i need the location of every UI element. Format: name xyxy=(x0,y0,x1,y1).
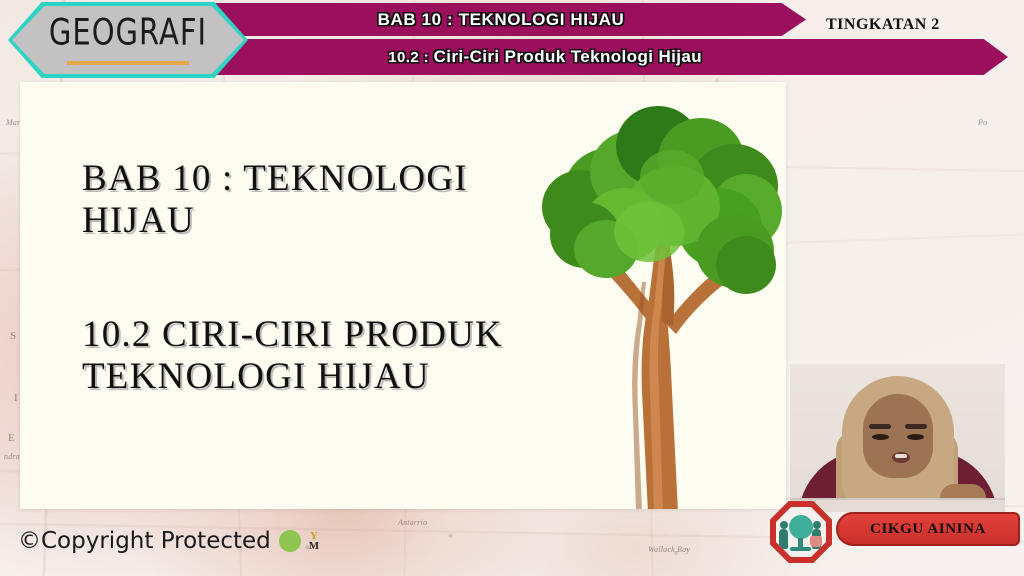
subject-name: GEOGRAFI xyxy=(49,11,207,54)
globe-icon xyxy=(789,515,813,539)
subject-underline xyxy=(67,61,189,65)
subject-hex-inner: GEOGRAFI xyxy=(12,6,244,74)
copyright-text: ©Copyright Protected xyxy=(18,528,271,554)
header-banner: BAB 10 : TEKNOLOGI HIJAU 10.2 : Ciri-Cir… xyxy=(0,0,1024,86)
map-label: Wallack Bay xyxy=(648,545,690,554)
map-label: ndra xyxy=(4,452,20,461)
map-label: Antarrio xyxy=(398,518,427,527)
presenter-eyebrow-left xyxy=(869,424,891,429)
student-head-left-icon xyxy=(780,521,788,529)
chapter-bar: BAB 10 : TEKNOLOGI HIJAU xyxy=(196,3,806,36)
topic-number: 10.2 : xyxy=(388,49,433,66)
watermark-initials: Y M xyxy=(309,531,319,551)
map-label: Po xyxy=(978,118,987,127)
presenter-face xyxy=(863,394,933,478)
presenter-eye-left xyxy=(872,434,889,440)
watermark-initial-bottom: M xyxy=(309,540,319,552)
tree-illustration xyxy=(530,92,786,509)
topic-text: Ciri-Ciri Produk Teknologi Hijau xyxy=(434,47,702,66)
topic-title: 10.2 : Ciri-Ciri Produk Teknologi Hijau xyxy=(196,39,894,76)
slide-panel: BAB 10 : TEKNOLOGI HIJAU 10.2 CIRI-CIRI … xyxy=(20,82,786,509)
globe-base-icon xyxy=(790,547,811,551)
presenter-eye-right xyxy=(907,434,924,440)
map-label: I xyxy=(14,392,18,404)
subject-hex-badge: GEOGRAFI xyxy=(8,2,248,78)
student-head-right-icon xyxy=(813,521,821,529)
student-skirt-icon xyxy=(810,536,822,547)
presenter-teeth xyxy=(895,454,907,458)
channel-logo-inner xyxy=(776,507,826,557)
watermark-dot-icon xyxy=(279,530,301,552)
chapter-title: BAB 10 : TEKNOLOGI HIJAU xyxy=(196,3,806,36)
presenter-video-feed[interactable] xyxy=(790,364,1005,512)
presenter-name-badge: CIKGU AININA xyxy=(836,512,1020,546)
presenter-name: CIKGU AININA xyxy=(870,521,986,538)
map-label: E xyxy=(8,432,15,444)
student-figure-left-icon xyxy=(779,529,788,549)
presenter-eyebrow-right xyxy=(905,424,927,429)
copyright-notice: ©Copyright Protected Y M xyxy=(18,528,319,554)
tree-foliage xyxy=(530,92,786,342)
map-label: S xyxy=(10,330,16,342)
slide-title-primary: BAB 10 : TEKNOLOGI HIJAU xyxy=(82,158,562,242)
topic-bar: 10.2 : Ciri-Ciri Produk Teknologi Hijau xyxy=(196,39,1008,75)
grade-level-label: TINGKATAN 2 xyxy=(826,16,940,34)
